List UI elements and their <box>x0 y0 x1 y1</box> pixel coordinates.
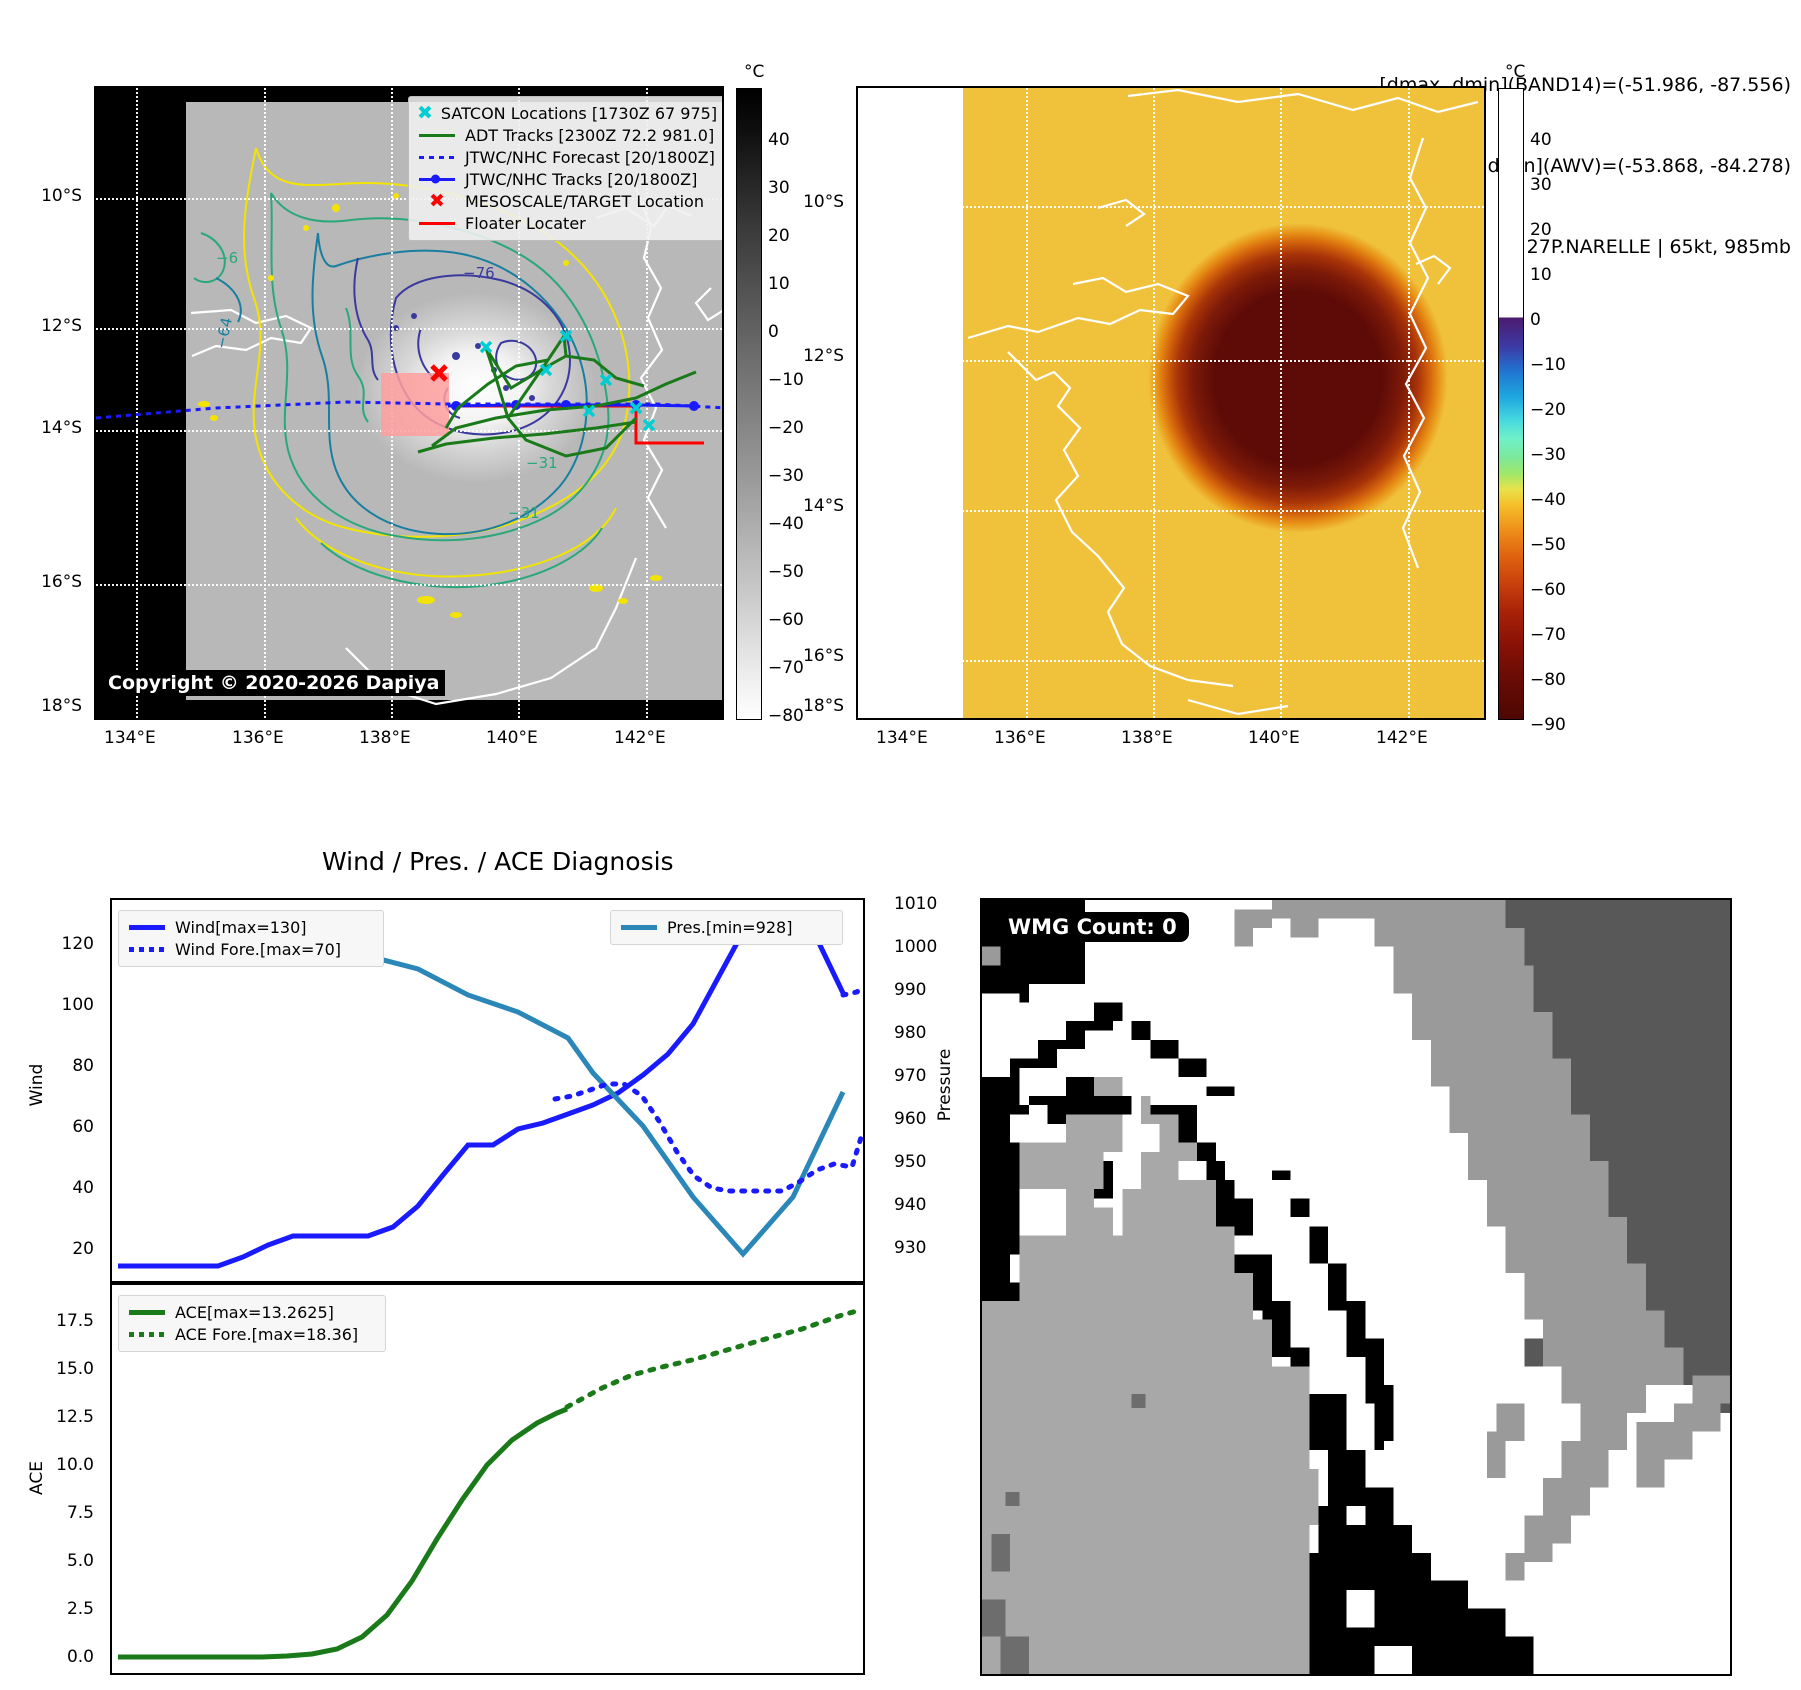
wmg-panel[interactable]: WMG Count: 0 <box>980 898 1732 1676</box>
ir-satellite-panel[interactable]: −76 −64 −6 −31 −31 <box>94 86 724 720</box>
wmg-classification-map <box>982 900 1730 1674</box>
legend-item-wind-forecast: Wind Fore.[max=70] <box>127 938 375 960</box>
awv-cb-tick-m70: −70 <box>1530 625 1566 645</box>
awv-cb-tick-m40: −40 <box>1530 490 1566 510</box>
ir-cb-tick-m40: −40 <box>768 514 804 534</box>
ace-ytick-12-5: 12.5 <box>56 1407 94 1427</box>
awv-gridline-10S <box>858 206 1484 208</box>
ir-lat-tick-16S: 16°S <box>41 572 82 592</box>
ir-lon-tick-134E: 134°E <box>104 728 156 748</box>
legend-item-satcon: ✖ SATCON Locations [1730Z 67 975] <box>417 102 717 124</box>
awv-cb-tick-10: 10 <box>1530 265 1552 285</box>
awv-lat-tick-16S: 16°S <box>803 646 844 666</box>
pres-ytick-940: 940 <box>894 1195 926 1215</box>
legend-item-jtwc-forecast: JTWC/NHC Forecast [20/1800Z] <box>417 146 717 168</box>
awv-lat-tick-14S: 14°S <box>803 496 844 516</box>
awv-gridline-142E <box>1408 88 1410 718</box>
pres-ytick-960: 960 <box>894 1109 926 1129</box>
ace-observed-line <box>118 1409 567 1657</box>
wind-ytick-20: 20 <box>72 1239 94 1259</box>
ir-cb-tick-m60: −60 <box>768 610 804 630</box>
ir-lat-tick-12S: 12°S <box>41 316 82 336</box>
ir-cb-tick-m30: −30 <box>768 466 804 486</box>
ace-ytick-5-0: 5.0 <box>67 1551 94 1571</box>
wind-ytick-100: 100 <box>62 995 94 1015</box>
legend-label-jtwc-forecast: JTWC/NHC Forecast [20/1800Z] <box>465 148 715 167</box>
legend-label-ace: ACE[max=13.2625] <box>175 1303 334 1322</box>
pres-ytick-990: 990 <box>894 980 926 1000</box>
awv-gridline-134E <box>908 88 910 718</box>
legend-label-pressure: Pres.[min=928] <box>667 918 792 937</box>
legend-label-mesoscale: MESOSCALE/TARGET Location <box>465 192 704 211</box>
wind-observed-line <box>118 917 843 1266</box>
ir-lon-tick-138E: 138°E <box>359 728 411 748</box>
ir-cb-tick-40: 40 <box>768 130 790 150</box>
awv-gridline-12S <box>858 360 1484 362</box>
awv-lat-tick-10S: 10°S <box>803 192 844 212</box>
awv-lon-tick-140E: 140°E <box>1248 728 1300 748</box>
pres-ytick-950: 950 <box>894 1152 926 1172</box>
ir-cb-tick-20: 20 <box>768 226 790 246</box>
legend-item-floater: Floater Locater <box>417 212 717 234</box>
wind-ytick-80: 80 <box>72 1056 94 1076</box>
ir-cb-tick-10: 10 <box>768 274 790 294</box>
wind-axis-label: Wind <box>27 1040 47 1130</box>
legend-label-satcon: SATCON Locations [1730Z 67 975] <box>441 104 717 123</box>
legend-item-jtwc-tracks: JTWC/NHC Tracks [20/1800Z] <box>417 168 717 190</box>
legend-label-wind: Wind[max=130] <box>175 918 307 937</box>
floater-line-icon <box>417 222 457 225</box>
satcon-x-icon: ✖ <box>417 102 433 124</box>
awv-lon-tick-136E: 136°E <box>994 728 1046 748</box>
legend-item-mesoscale: ✖ MESOSCALE/TARGET Location <box>417 190 717 212</box>
ir-lon-tick-136E: 136°E <box>232 728 284 748</box>
awv-cb-tick-m60: −60 <box>1530 580 1566 600</box>
ir-lon-tick-142E: 142°E <box>614 728 666 748</box>
awv-cb-tick-m30: −30 <box>1530 445 1566 465</box>
ace-forecast-line <box>567 1311 857 1407</box>
ir-lat-tick-10S: 10°S <box>41 186 82 206</box>
pres-ytick-930: 930 <box>894 1238 926 1258</box>
wmg-count-badge: WMG Count: 0 <box>996 912 1189 942</box>
awv-gridline-136E <box>1026 88 1028 718</box>
legend-label-adt: ADT Tracks [2300Z 72.2 981.0] <box>465 126 714 145</box>
awv-cb-tick-m80: −80 <box>1530 670 1566 690</box>
ace-ytick-15-0: 15.0 <box>56 1359 94 1379</box>
awv-colorbar <box>1498 88 1524 720</box>
ir-lat-tick-14S: 14°S <box>41 418 82 438</box>
ace-axis-label: ACE <box>27 1433 47 1523</box>
awv-gridline-16S <box>858 660 1484 662</box>
jtwc-tracks <box>448 405 696 406</box>
legend-label-floater: Floater Locater <box>465 214 586 233</box>
legend-item-wind: Wind[max=130] <box>127 916 375 938</box>
wind-forecast-dotted-icon <box>127 947 167 952</box>
ir-cb-tick-m10: −10 <box>768 370 804 390</box>
awv-cb-tick-m90: −90 <box>1530 715 1566 735</box>
ir-lat-tick-18S: 18°S <box>41 696 82 716</box>
awv-lat-tick-12S: 12°S <box>803 346 844 366</box>
diagnosis-title: Wind / Pres. / ACE Diagnosis <box>322 847 674 876</box>
awv-cb-tick-m20: −20 <box>1530 400 1566 420</box>
awv-lon-tick-134E: 134°E <box>876 728 928 748</box>
legend-label-wind-forecast: Wind Fore.[max=70] <box>175 940 341 959</box>
legend-label-ace-forecast: ACE Fore.[max=18.36] <box>175 1325 358 1344</box>
ace-ytick-0-0: 0.0 <box>67 1647 94 1667</box>
ace-ytick-7-5: 7.5 <box>67 1503 94 1523</box>
ace-line-icon <box>127 1310 167 1315</box>
pres-ytick-970: 970 <box>894 1066 926 1086</box>
pres-ytick-1010: 1010 <box>894 894 937 914</box>
awv-colorbar-title: °C <box>1505 62 1525 82</box>
ir-lon-tick-140E: 140°E <box>486 728 538 748</box>
ir-colorbar-title: °C <box>744 62 764 82</box>
mesoscale-x-icon: ✖ <box>417 190 457 212</box>
wind-line-icon <box>127 925 167 930</box>
awv-lon-tick-138E: 138°E <box>1121 728 1173 748</box>
awv-cb-tick-m50: −50 <box>1530 535 1566 555</box>
pressure-axis-label: Pressure <box>935 1040 955 1130</box>
jtwc-linedot-icon <box>417 178 457 181</box>
copyright-notice: Copyright © 2020-2026 Dapiya <box>102 670 445 696</box>
ir-cb-tick-m80: −80 <box>768 706 804 726</box>
awv-satellite-panel[interactable] <box>856 86 1486 720</box>
awv-cb-tick-20: 20 <box>1530 220 1552 240</box>
awv-lon-axis: 134°E 136°E 138°E 140°E 142°E <box>856 728 1486 758</box>
legend-item-ace-forecast: ACE Fore.[max=18.36] <box>127 1323 377 1345</box>
pressure-line-icon <box>619 925 659 930</box>
pressure-legend: Pres.[min=928] <box>610 910 843 945</box>
ir-legend: ✖ SATCON Locations [1730Z 67 975] ADT Tr… <box>408 96 724 241</box>
pressure-line <box>118 917 843 1254</box>
legend-label-jtwc-tracks: JTWC/NHC Tracks [20/1800Z] <box>465 170 697 189</box>
pres-ytick-1000: 1000 <box>894 937 937 957</box>
awv-cb-tick-m10: −10 <box>1530 355 1566 375</box>
wind-ytick-40: 40 <box>72 1178 94 1198</box>
wind-ytick-120: 120 <box>62 934 94 954</box>
ace-legend: ACE[max=13.2625] ACE Fore.[max=18.36] <box>118 1295 386 1352</box>
adt-line-icon <box>417 134 457 137</box>
adt-tracks <box>418 336 696 456</box>
awv-cb-tick-40: 40 <box>1530 130 1552 150</box>
awv-gridline-14S <box>858 510 1484 512</box>
awv-coastline-overlay <box>858 88 1486 720</box>
awv-cb-tick-0: 0 <box>1530 310 1541 330</box>
legend-item-ace: ACE[max=13.2625] <box>127 1301 377 1323</box>
pres-ytick-980: 980 <box>894 1023 926 1043</box>
legend-item-adt: ADT Tracks [2300Z 72.2 981.0] <box>417 124 717 146</box>
forecast-dotted-icon <box>417 156 457 159</box>
ace-ytick-17-5: 17.5 <box>56 1311 94 1331</box>
ir-lon-axis: 134°E 136°E 138°E 140°E 142°E <box>94 728 724 758</box>
awv-gridline-140E <box>1280 88 1282 718</box>
awv-cb-tick-30: 30 <box>1530 175 1552 195</box>
ace-forecast-dotted-icon <box>127 1332 167 1337</box>
ace-ytick-10-0: 10.0 <box>56 1455 94 1475</box>
ace-ytick-2-5: 2.5 <box>67 1599 94 1619</box>
ir-cb-tick-30: 30 <box>768 178 790 198</box>
awv-gridline-138E <box>1153 88 1155 718</box>
awv-lon-tick-142E: 142°E <box>1376 728 1428 748</box>
wind-legend: Wind[max=130] Wind Fore.[max=70] <box>118 910 384 967</box>
wind-ytick-60: 60 <box>72 1117 94 1137</box>
wind-forecast-line <box>843 986 863 995</box>
ir-cb-tick-m20: −20 <box>768 418 804 438</box>
ir-cb-tick-0: 0 <box>768 322 779 342</box>
legend-item-pressure: Pres.[min=928] <box>619 916 834 938</box>
awv-lat-tick-18S: 18°S <box>803 696 844 716</box>
ir-cb-tick-m70: −70 <box>768 658 804 678</box>
ir-cb-tick-m50: −50 <box>768 562 804 582</box>
ir-colorbar <box>736 88 762 720</box>
